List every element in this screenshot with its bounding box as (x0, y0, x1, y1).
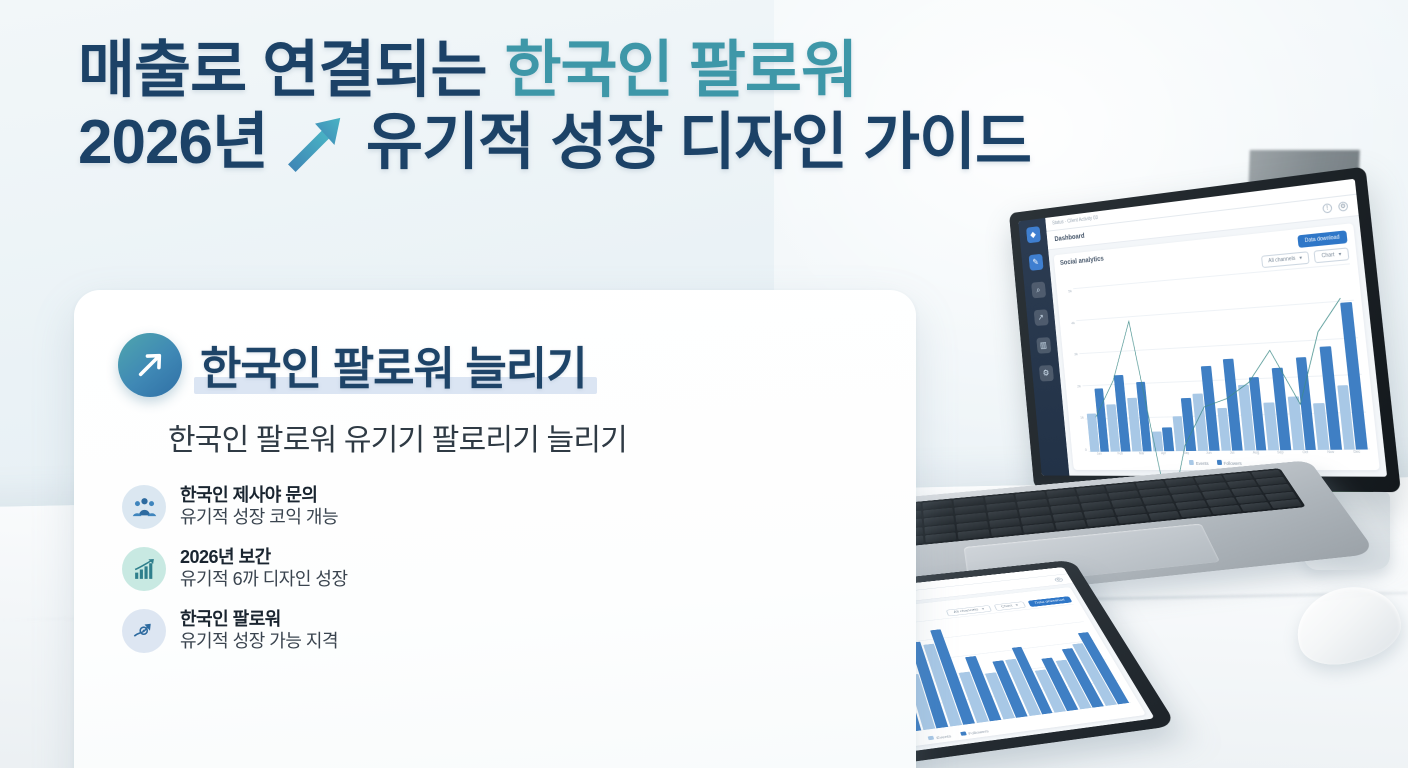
feature-item: 한국인 제사야 문의 유기적 성장 코익 개능 (122, 485, 452, 529)
x-tick: May (1174, 451, 1197, 458)
channel-filter-label: All channels (1268, 256, 1296, 265)
headline-year: 2026년 (78, 110, 268, 176)
x-axis-ticks: JanFebMarAprMayJunJulAugSepOctNovDec (1089, 449, 1371, 458)
laptop-screen: ◆ ✎ ⌕ ↗ ▥ ⚙ Status · Client Activity 03 … (1018, 179, 1387, 477)
data-download-button[interactable]: Data download (1297, 230, 1348, 248)
x-tick: Jan (1089, 452, 1110, 459)
people-group-icon (122, 485, 166, 529)
badge-arrow-glyph (133, 348, 167, 382)
gear-icon[interactable]: ⚙ (1338, 201, 1349, 212)
dashboard-main: Status · Client Activity 03 Dashboard ! … (1045, 179, 1387, 477)
arrow-up-right-icon (118, 333, 182, 397)
page-title: Dashboard (1054, 233, 1085, 243)
feature-item: 2026년 보간 유기적 6까 디자인 성장 (122, 547, 452, 591)
target-arrow-icon (122, 609, 166, 653)
card-subtitle: 한국인 팔로워 유기기 팔로리기 늘리기 (168, 415, 916, 459)
growth-chart-icon (122, 547, 166, 591)
x-tick: Aug (1244, 450, 1269, 457)
growth-chart-glyph (132, 557, 157, 582)
bell-icon[interactable]: ! (1322, 203, 1332, 214)
channel-filter-select[interactable]: All channels ▾ (1261, 251, 1310, 268)
chevron-down-icon: ▾ (981, 607, 985, 610)
feature-title: 2026년 보간 (180, 547, 348, 569)
feature-desc: 유기적 성장 코익 개능 (180, 507, 338, 529)
edit-icon[interactable]: ✎ (1028, 254, 1043, 271)
x-tick: Oct (1292, 450, 1318, 458)
chevron-down-icon: ▾ (1015, 604, 1019, 607)
feature-item: 한국인 팔로워 유기적 성장 가능 지격 (122, 609, 452, 653)
analytics-card: Social analytics Data download All chann… (1054, 223, 1380, 470)
keyboard-key[interactable] (1148, 511, 1180, 521)
target-arrow-glyph (132, 619, 157, 644)
feature-list: 한국인 제사야 문의 유기적 성장 코익 개능 2026년 보간 유기적 6까 … (122, 485, 452, 653)
x-tick: Jun (1197, 451, 1221, 458)
keyboard-key[interactable] (1270, 499, 1302, 508)
people-group-glyph (132, 495, 157, 520)
y-tick: 5k (1063, 288, 1072, 293)
x-tick: Jul (1220, 451, 1244, 458)
chart-type-select[interactable]: Chart ▾ (1314, 247, 1350, 263)
card-title: 한국인 팔로워 늘리기 (200, 332, 587, 397)
y-tick: 3k (1068, 352, 1078, 357)
keyboard-key[interactable] (1210, 505, 1242, 515)
feature-desc: 유기적 성장 가능 지격 (180, 631, 338, 653)
headline-line1-accent: 한국인 팔로워 (505, 38, 857, 104)
laptop-dashboard: ◆ ✎ ⌕ ↗ ▥ ⚙ Status · Client Activity 03 … (1018, 179, 1387, 477)
keyboard-key[interactable] (1240, 502, 1272, 512)
search-icon[interactable]: ⌕ (1031, 282, 1046, 299)
headline-line1-dark: 매출로 연결되는 (78, 38, 487, 104)
chevron-down-icon: ▾ (1299, 255, 1302, 262)
trend-line (1073, 263, 1384, 476)
analytics-card-title: Social analytics (1060, 256, 1104, 267)
x-tick: Mar (1131, 451, 1153, 458)
y-tick: 1k (1074, 415, 1084, 420)
info-card: 한국인 팔로워 늘리기 한국인 팔로워 유기기 팔로리기 늘리기 한국인 제사야… (74, 290, 916, 768)
keyboard-key[interactable] (1179, 508, 1211, 518)
page-title: 매출로 연결되는 한국인 팔로워 2026년 유기적 성장 디자인 가이드 (78, 38, 1318, 175)
y-tick: 4k (1065, 320, 1074, 325)
feature-title: 한국인 제사야 문의 (180, 485, 338, 507)
card-header: 한국인 팔로워 늘리기 (74, 290, 916, 397)
settings-icon[interactable]: ⚙ (1038, 365, 1053, 381)
chart-icon[interactable]: ▥ (1036, 337, 1051, 354)
x-tick: Feb (1109, 451, 1131, 458)
share-icon[interactable]: ↗ (1033, 309, 1048, 326)
chart-type-label: Chart (1321, 252, 1334, 260)
laptop-lid: ◆ ✎ ⌕ ↗ ▥ ⚙ Status · Client Activity 03 … (1009, 167, 1401, 493)
breadcrumb-text: Status · Client Activity 03 (1052, 215, 1098, 226)
x-tick: Dec (1343, 449, 1370, 457)
y-tick: 0 (1077, 447, 1087, 452)
headline-line2-rest: 유기적 성장 디자인 가이드 (366, 110, 1031, 176)
logo-icon[interactable]: ◆ (1026, 226, 1041, 243)
x-tick: Sep (1268, 450, 1293, 457)
analytics-plot: 5k4k3k2k1k0 JanFebMarAprMayJ (1063, 263, 1371, 458)
tablet-chart-type-label: Chart (1001, 604, 1013, 608)
gear-icon[interactable]: ⚙ (1054, 577, 1064, 582)
y-tick: 2k (1071, 383, 1081, 388)
tablet-channel-label: All channels (953, 608, 979, 614)
x-tick: Apr (1152, 451, 1175, 458)
x-tick: Nov (1318, 450, 1345, 458)
trend-up-arrow-icon (286, 112, 348, 174)
feature-title: 한국인 팔로워 (180, 609, 338, 631)
feature-desc: 유기적 6까 디자인 성장 (180, 569, 348, 591)
chevron-down-icon: ▾ (1338, 251, 1341, 258)
